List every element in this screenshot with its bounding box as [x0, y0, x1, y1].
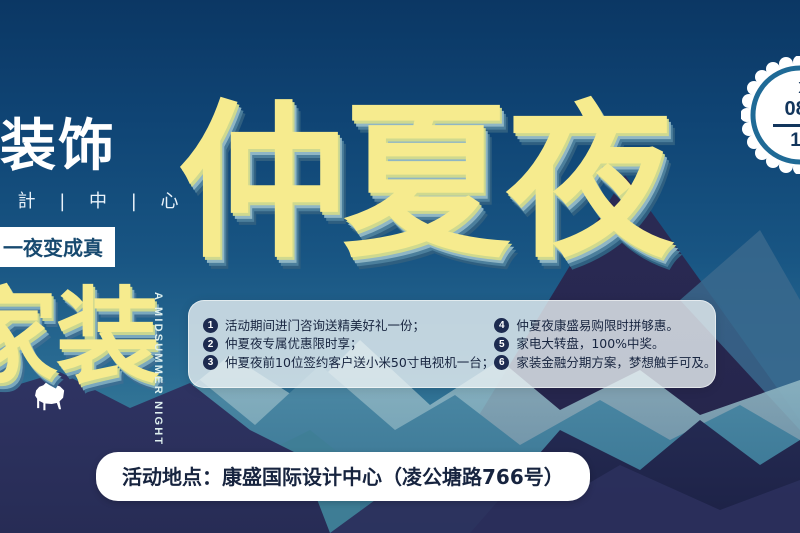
benefit-text: 家电大转盘，100%中奖。: [516, 336, 664, 352]
headline-secondary: 家装: [0, 285, 158, 389]
benefit-text: 仲夏夜康盛易购限时拼够惠。: [516, 318, 679, 334]
benefit-text: 仲夏夜前10位签约客户送小米50寸电视机一台；: [225, 355, 494, 371]
benefit-item: 5 家电大转盘，100%中奖。: [494, 336, 734, 352]
stamp-time: 18:: [790, 130, 800, 152]
address-pill: 活动地点：康盛国际设计中心（凌公塘路766号）: [96, 452, 590, 501]
benefit-number: 4: [494, 318, 509, 333]
brand-subtitle: 設 | 計 | 中 | 心: [0, 187, 192, 213]
benefit-text: 活动期间进门咨询送精美好礼一份；: [225, 318, 425, 334]
vertical-english-caption: A MIDSUMMER NIGHT: [152, 292, 164, 446]
benefit-item: 4 仲夏夜康盛易购限时拼够惠。: [494, 318, 734, 334]
stamp-divider: [773, 124, 800, 127]
benefit-item: 1 活动期间进门咨询送精美好礼一份；: [203, 318, 494, 334]
benefits-column-right: 4 仲夏夜康盛易购限时拼够惠。 5 家电大转盘，100%中奖。 6 家装金融分期…: [494, 318, 734, 371]
benefit-item: 6 家装金融分期方案，梦想触手可及。: [494, 355, 734, 371]
benefits-column-left: 1 活动期间进门咨询送精美好礼一份； 2 仲夏夜专属优惠限时享； 3 仲夏夜前1…: [203, 318, 494, 371]
headline-main: 仲夏夜: [178, 103, 670, 264]
benefit-text: 仲夏夜专属优惠限时享；: [225, 336, 363, 352]
poster-canvas: 盛装饰 設 | 計 | 中 | 心 装梦 一夜变成真 仲夏夜 家装 A MIDS…: [0, 0, 800, 533]
stamp-date: 08/2: [785, 98, 800, 121]
brand-logo-block: 盛装饰 設 | 計 | 中 | 心 装梦 一夜变成真: [0, 118, 192, 267]
benefit-number: 6: [494, 355, 509, 370]
benefit-text: 家装金融分期方案，梦想触手可及。: [516, 355, 716, 371]
benefit-number: 1: [203, 318, 218, 333]
benefits-panel: 1 活动期间进门咨询送精美好礼一份； 2 仲夏夜专属优惠限时享； 3 仲夏夜前1…: [188, 300, 716, 388]
benefit-number: 2: [203, 337, 218, 352]
date-stamp-badge: X 08/2 18:: [741, 56, 800, 174]
benefit-number: 5: [494, 337, 509, 352]
benefit-number: 3: [203, 355, 218, 370]
brand-tagline: 装梦 一夜变成真: [0, 227, 115, 267]
brand-name: 盛装饰: [0, 118, 192, 177]
benefit-item: 3 仲夏夜前10位签约客户送小米50寸电视机一台；: [203, 355, 494, 371]
benefit-item: 2 仲夏夜专属优惠限时享；: [203, 336, 494, 352]
